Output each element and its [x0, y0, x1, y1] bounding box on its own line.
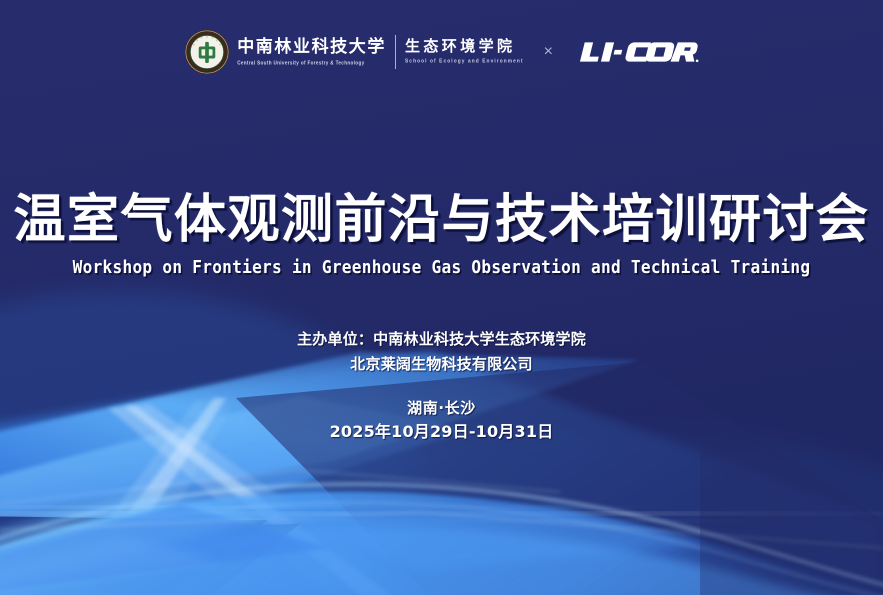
organizers-block: 主办单位：中南林业科技大学生态环境学院 北京莱阔生物科技有限公司 [0, 327, 883, 377]
university-logo-group: 中南林业科技大学 Central South University of For… [184, 29, 523, 75]
licor-logo [573, 39, 699, 65]
logo-bar: 中南林业科技大学 Central South University of For… [0, 26, 883, 78]
conference-poster: 中南林业科技大学 Central South University of For… [0, 0, 883, 595]
page-title-cn: 温室气体观测前沿与技术培训研讨会 [0, 192, 883, 248]
cross-separator-icon: × [544, 44, 553, 60]
university-seal-icon [184, 29, 230, 75]
organizer-line: 主办单位：中南林业科技大学生态环境学院 [0, 327, 883, 352]
background-artwork [0, 0, 883, 595]
venue-city: 湖南·长沙 [0, 396, 883, 420]
organizer-line: 北京莱阔生物科技有限公司 [0, 352, 883, 377]
logo-divider [395, 35, 396, 69]
university-name-block: 中南林业科技大学 Central South University of For… [237, 38, 386, 66]
university-name-en: Central South University of Forestry & T… [237, 60, 386, 67]
page-title-en: Workshop on Frontiers in Greenhouse Gas … [35, 259, 847, 278]
university-name-cn: 中南林业科技大学 [237, 39, 386, 57]
school-name-cn: 生态环境学院 [405, 39, 524, 55]
venue-date: 2025年10月29日-10月31日 [0, 420, 883, 444]
venue-block: 湖南·长沙 2025年10月29日-10月31日 [0, 396, 883, 444]
school-name-en: School of Ecology and Environment [405, 59, 524, 67]
school-name-block: 生态环境学院 School of Ecology and Environment [405, 38, 524, 65]
